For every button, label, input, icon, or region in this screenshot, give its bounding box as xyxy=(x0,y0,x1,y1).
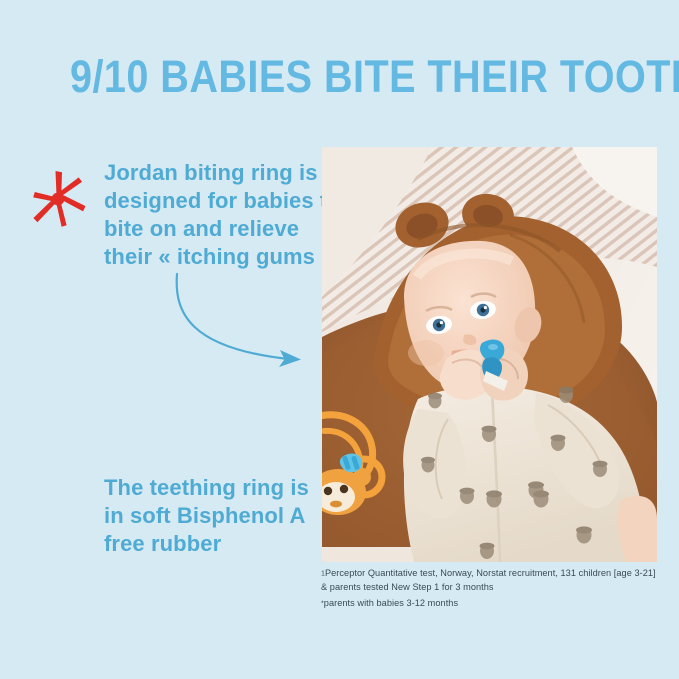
footnotes: 1Perceptor Quantitative test, Norway, No… xyxy=(321,567,666,611)
callout-top-line-4: their « itching gums » xyxy=(104,243,334,271)
footnote-line-1: 1Perceptor Quantitative test, Norway, No… xyxy=(321,567,666,581)
callout-top-line-3: bite on and relieve xyxy=(104,215,334,243)
footnote-line-3: *parents with babies 3-12 months xyxy=(321,597,666,611)
product-photo xyxy=(322,147,657,562)
callout-text-bottom: The teething ring is in soft Bisphenol A… xyxy=(104,474,319,558)
footnote-text-3: parents with babies 3-12 months xyxy=(324,598,458,608)
callout-text-top: Jordan biting ring is designed for babie… xyxy=(104,159,334,271)
page-title: 9/10 BABIES BITE THEIR TOOTHBRUSH xyxy=(70,54,550,100)
red-asterisk-icon xyxy=(27,168,89,230)
callout-top-line-1: Jordan biting ring is xyxy=(104,159,334,187)
infographic-page: 9/10 BABIES BITE THEIR TOOTHBRUSH Jordan… xyxy=(0,0,679,679)
callout-bottom-line-1: The teething ring is xyxy=(104,474,319,502)
callout-bottom-line-2: in soft Bisphenol A xyxy=(104,502,319,530)
footnote-line-2: & parents tested New Step 1 for 3 months xyxy=(321,581,666,595)
footnote-text-1: Perceptor Quantitative test, Norway, Nor… xyxy=(325,568,656,578)
callout-top-line-2: designed for babies to xyxy=(104,187,334,215)
footnote-text-2: & parents tested New Step 1 for 3 months xyxy=(321,582,494,592)
curved-arrow-icon xyxy=(160,268,310,373)
callout-bottom-line-3: free rubber xyxy=(104,530,319,558)
